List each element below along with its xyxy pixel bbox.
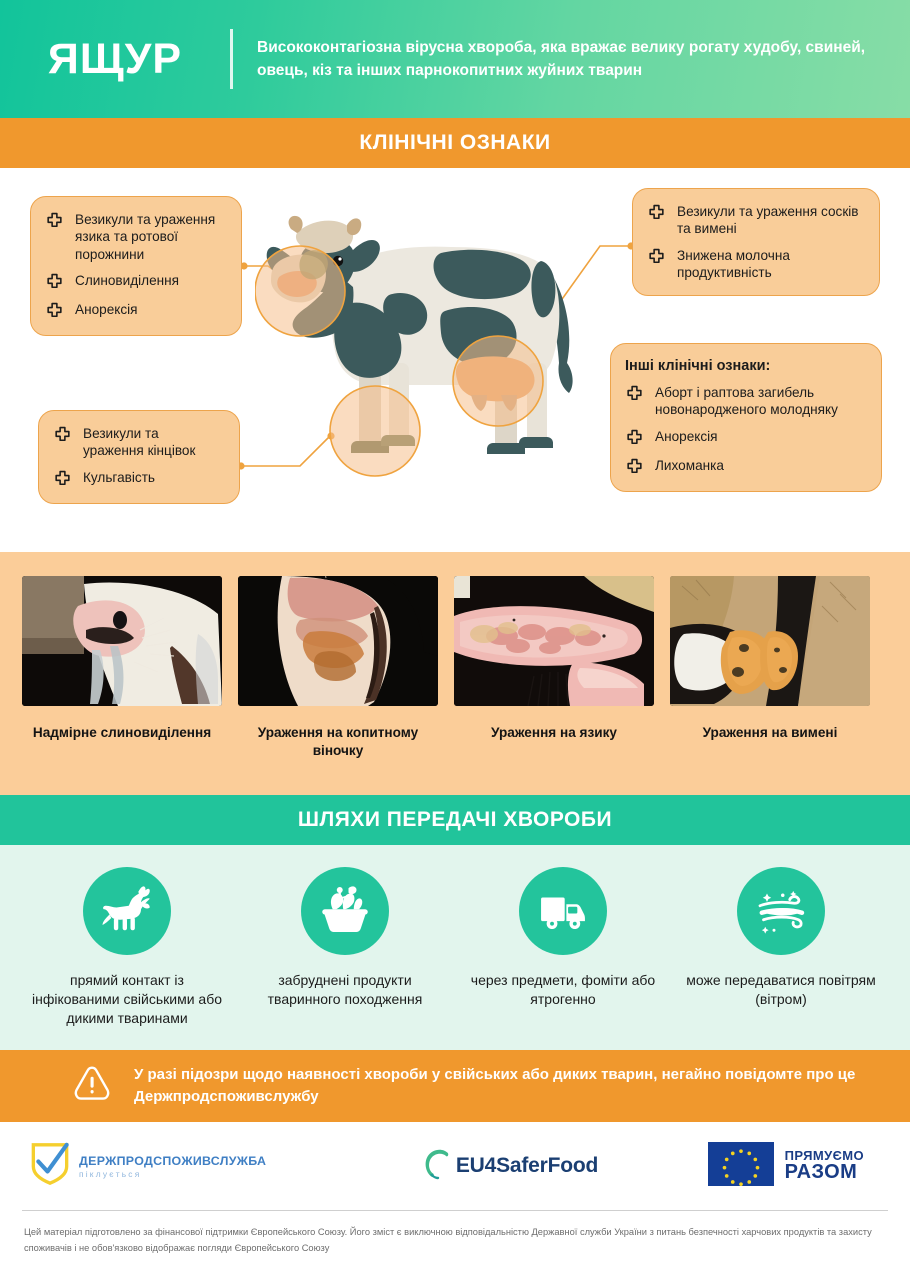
transmission-item-direct-contact: прямий контакт із інфікованими свійським… (18, 867, 236, 1027)
transmission-label: через предмети, фоміти або ятрогенно (463, 971, 663, 1009)
transmission-label: забруднені продукти тваринного походженн… (245, 971, 445, 1009)
eu4saferfood-arc-icon (422, 1146, 454, 1187)
photo-caption: Ураження на копитному віночку (238, 724, 438, 759)
page-footer: ДЕРЖПРОДСПОЖИВСЛУЖБА піклується EU4Safer… (0, 1122, 910, 1280)
medical-cross-icon (647, 248, 666, 267)
logo-dcs-name: ДЕРЖПРОДСПОЖИВСЛУЖБА (79, 1154, 266, 1168)
eu-flag-icon (708, 1142, 774, 1191)
header-subtitle: Висококонтагіозна вірусна хвороба, яка в… (257, 36, 877, 83)
medical-cross-icon (647, 204, 666, 223)
medical-cross-icon (625, 385, 644, 404)
warning-text: У разі підозри щодо наявності хвороби у … (134, 1064, 910, 1108)
photo-caption: Надмірне слиновиділення (22, 724, 222, 742)
medical-cross-icon (625, 458, 644, 477)
list-item: Анорексія (625, 428, 865, 448)
medical-cross-icon (53, 426, 72, 445)
list-item: Везикули та ураження кінцівок (53, 425, 223, 460)
logo-eu4-text: EU4SaferFood (456, 1154, 598, 1178)
section-bar-transmission: ШЛЯХИ ПЕРЕДАЧІ ХВОРОБИ (0, 795, 910, 845)
medical-cross-icon (625, 429, 644, 448)
photo-caption: Ураження на язику (454, 724, 654, 742)
photo-udder-lesion (670, 576, 870, 706)
photo-cell-salivation: Надмірне слиновиділення (22, 576, 222, 759)
logo-eu-together: ПРЯМУЄМО РАЗОМ (660, 1142, 880, 1191)
goat-icon (83, 867, 171, 955)
section-bar-transmission-label: ШЛЯХИ ПЕРЕДАЧІ ХВОРОБИ (298, 808, 612, 832)
medical-cross-icon (45, 302, 64, 321)
list-item-label: Лихоманка (655, 457, 724, 474)
list-item-label: Знижена молочна продуктивність (677, 247, 863, 282)
logo-eu-line1: ПРЯМУЄМО (785, 1149, 864, 1162)
callout-other-title: Інші клінічні ознаки: (625, 358, 865, 374)
alert-triangle-icon (72, 1064, 112, 1109)
section-bar-clinical-label: КЛІНІЧНІ ОЗНАКИ (359, 131, 550, 155)
transmission-routes-section: прямий контакт із інфікованими свійським… (0, 845, 910, 1050)
list-item-label: Везикули та ураження кінцівок (83, 425, 223, 460)
transmission-item-contaminated-products: забруднені продукти тваринного походженн… (236, 867, 454, 1027)
clinical-photos-strip: Надмірне слиновиділення (0, 552, 910, 795)
clinical-signs-section: Везикули та ураження язика та ротової по… (0, 168, 910, 552)
photo-cell-coronary: Ураження на копитному віночку (238, 576, 438, 759)
list-item-label: Слиновиділення (75, 272, 179, 289)
truck-icon (519, 867, 607, 955)
infographic-page: ЯЩУР Висококонтагіозна вірусна хвороба, … (0, 0, 910, 1280)
page-header: ЯЩУР Висококонтагіозна вірусна хвороба, … (0, 0, 910, 118)
list-item-label: Везикули та ураження язика та ротової по… (75, 211, 225, 263)
callout-other-signs: Інші клінічні ознаки: Аборт і раптова за… (610, 343, 882, 492)
list-item: Знижена молочна продуктивність (647, 247, 863, 282)
transmission-label: прямий контакт із інфікованими свійським… (27, 971, 227, 1027)
section-bar-clinical: КЛІНІЧНІ ОЗНАКИ (0, 118, 910, 168)
callout-mouth-signs: Везикули та ураження язика та ротової по… (30, 196, 242, 336)
shield-check-icon (30, 1141, 70, 1192)
list-item-label: Анорексія (75, 301, 138, 318)
page-title: ЯЩУР (0, 38, 230, 81)
list-item-label: Аборт і раптова загибель новонародженого… (655, 384, 865, 419)
list-item-label: Анорексія (655, 428, 718, 445)
list-item: Лихоманка (625, 457, 865, 477)
photo-caption: Ураження на вимені (670, 724, 870, 742)
list-item-label: Кульгавість (83, 469, 155, 486)
list-item: Анорексія (45, 301, 225, 321)
logo-eu-line2: РАЗОМ (785, 1162, 864, 1182)
callout-limb-signs: Везикули та ураження кінцівок Кульгавіст… (38, 410, 240, 504)
medical-cross-icon (45, 273, 64, 292)
warning-banner: У разі підозри щодо наявності хвороби у … (0, 1050, 910, 1122)
list-item: Аборт і раптова загибель новонародженого… (625, 384, 865, 419)
list-item: Везикули та ураження сосків та вимені (647, 203, 863, 238)
logo-eu4saferfood: EU4SaferFood (360, 1146, 660, 1187)
list-item: Кульгавість (53, 469, 223, 489)
list-item: Слиновиділення (45, 272, 225, 292)
logo-dcs-tagline: піклується (79, 1169, 266, 1179)
transmission-item-airborne: може передаватися повітрям (вітром) (672, 867, 890, 1027)
footer-disclaimer: Цей матеріал підготовлено за фінансової … (0, 1211, 910, 1257)
photo-coronary-band-lesion (238, 576, 438, 706)
photo-tongue-lesion (454, 576, 654, 706)
cow-illustration (255, 203, 635, 493)
medical-cross-icon (53, 470, 72, 489)
callout-udder-signs: Везикули та ураження сосків та вимені Зн… (632, 188, 880, 296)
wind-icon (737, 867, 825, 955)
list-item: Везикули та ураження язика та ротової по… (45, 211, 225, 263)
logo-derzhprodspozhyvsluzhba: ДЕРЖПРОДСПОЖИВСЛУЖБА піклується (30, 1141, 360, 1192)
photo-cell-udder: Ураження на вимені (670, 576, 870, 759)
transmission-item-fomites: через предмети, фоміти або ятрогенно (454, 867, 672, 1027)
photo-cell-tongue: Ураження на язику (454, 576, 654, 759)
header-divider (230, 29, 233, 89)
transmission-label: може передаватися повітрям (вітром) (681, 971, 881, 1009)
medical-cross-icon (45, 212, 64, 231)
photo-excessive-salivation (22, 576, 222, 706)
food-basket-icon (301, 867, 389, 955)
list-item-label: Везикули та ураження сосків та вимені (677, 203, 863, 238)
